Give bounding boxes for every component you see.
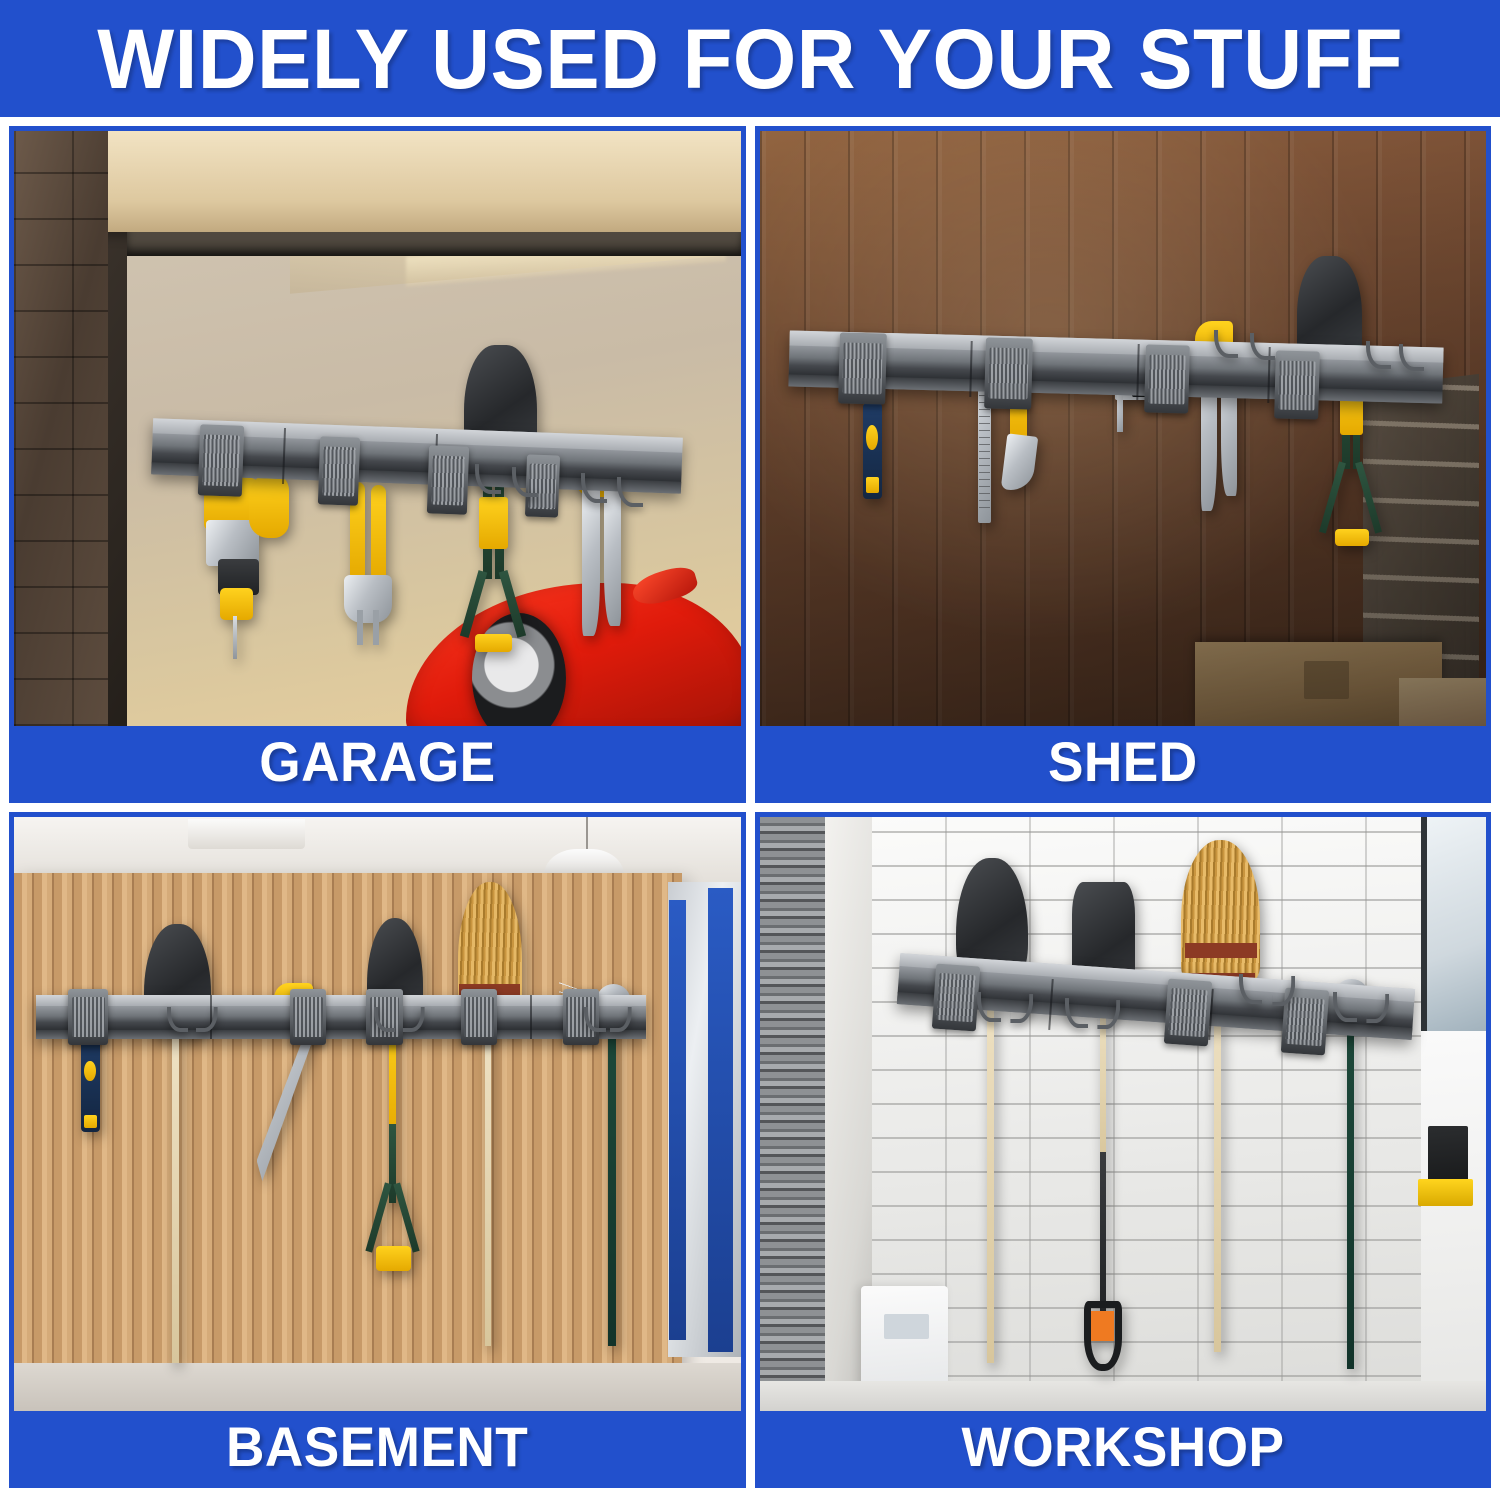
garage-clip-1 xyxy=(198,425,244,498)
basement-shelf-rail-front xyxy=(708,888,733,1352)
shed-caption: SHED xyxy=(1048,734,1198,790)
garage-photo xyxy=(14,131,741,726)
garage-stone-wall xyxy=(14,131,108,726)
panel-shed: SHED xyxy=(755,126,1492,803)
workshop-clip-1 xyxy=(932,964,980,1032)
shed-photo xyxy=(760,131,1487,726)
basement-floor xyxy=(14,1363,741,1411)
page-title: WIDELY USED FOR YOUR STUFF xyxy=(97,17,1403,101)
basement-lamp-cord xyxy=(586,817,588,853)
workshop-meter-bracket xyxy=(1418,1179,1472,1206)
shed-clip-1 xyxy=(838,333,887,406)
garage-header-beam xyxy=(79,131,740,232)
workshop-leaf-rake xyxy=(1290,882,1414,1369)
workshop-caption: WORKSHOP xyxy=(961,1419,1284,1475)
workshop-window xyxy=(1421,817,1486,1043)
basement-d-handle-spade xyxy=(355,918,435,1275)
workshop-floor xyxy=(760,1381,1487,1411)
infographic-root: WIDELY USED FOR YOUR STUFF xyxy=(0,0,1500,1497)
workshop-corn-broom xyxy=(1174,840,1268,1351)
panel-basement: BASEMENT xyxy=(9,812,746,1489)
workshop-right-wall xyxy=(1421,1031,1486,1411)
garage-caption-band: GARAGE xyxy=(14,726,741,798)
basement-clip-4 xyxy=(461,989,497,1045)
header-banner: WIDELY USED FOR YOUR STUFF xyxy=(0,0,1500,117)
basement-caption-band: BASEMENT xyxy=(14,1411,741,1483)
garage-clip-3 xyxy=(427,445,469,515)
shed-caption-band: SHED xyxy=(760,726,1487,798)
basement-shelf-rail-back xyxy=(669,900,686,1340)
basement-photo xyxy=(14,817,741,1412)
basement-long-shovel xyxy=(138,924,225,1364)
shed-clip-2 xyxy=(984,337,1033,410)
panel-workshop: WORKSHOP xyxy=(755,812,1492,1489)
workshop-caption-band: WORKSHOP xyxy=(760,1411,1487,1483)
basement-caption: BASEMENT xyxy=(226,1419,528,1475)
garage-clip-2 xyxy=(318,436,360,506)
garage-scene xyxy=(14,131,741,726)
workshop-roller-shutter xyxy=(760,817,825,1412)
workshop-long-shovel xyxy=(948,858,1042,1363)
workshop-photo xyxy=(760,817,1487,1412)
shed-scene xyxy=(760,131,1487,726)
garage-adjustable-wrench xyxy=(341,482,399,643)
basement-clip-2 xyxy=(290,989,326,1045)
workshop-scene xyxy=(760,817,1487,1412)
basement-leaf-rake xyxy=(559,894,668,1346)
basement-rail-seam-3 xyxy=(530,995,532,1040)
shed-clip-3 xyxy=(1144,344,1189,413)
workshop-d-handle-spade xyxy=(1057,882,1151,1381)
garage-hammer-drill xyxy=(196,470,298,648)
shed-clip-4 xyxy=(1274,350,1319,419)
workshop-clip-2 xyxy=(1164,979,1212,1047)
basement-ceiling-vent xyxy=(188,819,304,849)
garage-caption: GARAGE xyxy=(259,734,495,790)
basement-corn-broom xyxy=(450,882,530,1346)
basement-scene xyxy=(14,817,741,1412)
panel-grid: GARAGE xyxy=(0,117,1500,1497)
basement-tool-rail xyxy=(36,995,646,1040)
panel-garage: GARAGE xyxy=(9,126,746,803)
basement-clip-1 xyxy=(68,989,108,1045)
